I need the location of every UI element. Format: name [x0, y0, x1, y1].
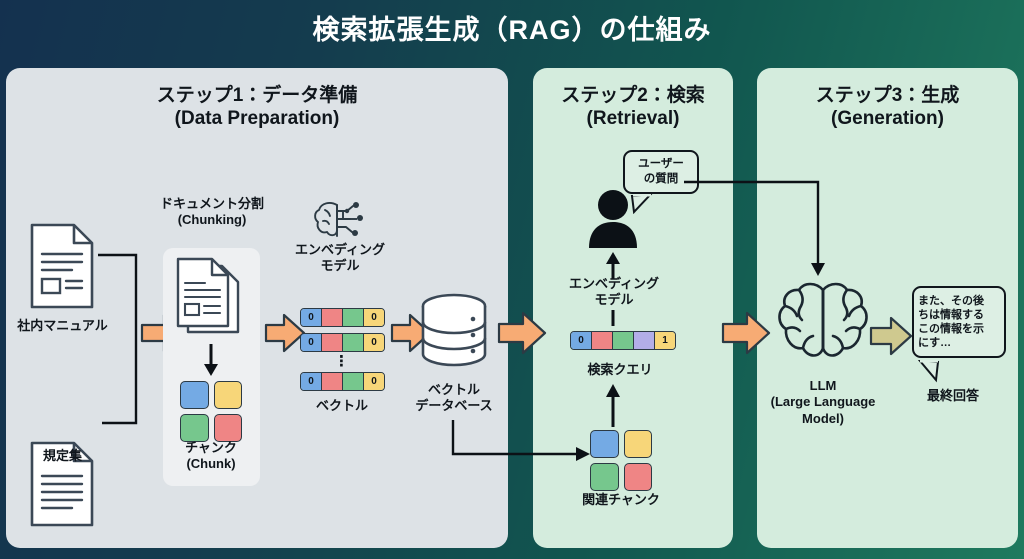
vector-cell	[322, 334, 343, 351]
panel-step2-title-en: (Retrieval)	[533, 107, 733, 130]
panel-step1-title-en: (Data Preparation)	[6, 107, 508, 130]
related-chunk-yellow	[624, 430, 653, 458]
vector-cell: 0	[364, 373, 384, 390]
chunk-yellow	[214, 381, 243, 409]
brain-icon[interactable]	[776, 278, 870, 370]
llm-label-line2: (Large Language	[745, 394, 901, 410]
final-answer-bubble: また、その後 ちは情報する この情報を示 にす…	[912, 286, 1006, 358]
page-title: 検索拡張生成（RAG）の仕組み	[0, 8, 1024, 47]
llm-label-line3: Model)	[745, 411, 901, 427]
chunking-title-ja: ドキュメント分割	[148, 196, 276, 212]
answer-bubble-tail	[918, 360, 944, 384]
answer-line2: ちは情報する	[918, 308, 1000, 322]
document-icon	[28, 222, 96, 310]
chunk-grid	[180, 381, 242, 442]
brain-circuit-icon	[312, 198, 368, 244]
vector-cell: 0	[301, 334, 322, 351]
panel-step2-title: ステップ2：検索 (Retrieval)	[533, 84, 733, 130]
vector-cell	[322, 373, 343, 390]
answer-line1: また、その後	[918, 294, 1000, 308]
query-cell: 0	[571, 332, 592, 349]
panel-step1-title-ja: ステップ1：データ準備	[6, 84, 508, 107]
answer-line3: この情報を示	[918, 322, 1000, 336]
query-cell	[592, 332, 613, 349]
query-cell: 1	[655, 332, 675, 349]
panel-step3-title-ja: ステップ3：生成	[757, 84, 1018, 107]
vector-row: 0 0	[300, 372, 385, 391]
vector-row: 0 0	[300, 333, 385, 352]
database-cylinder-icon[interactable]	[418, 292, 490, 374]
vector-cell	[343, 309, 364, 326]
vector-cell	[322, 309, 343, 326]
embedding-model-step2-line1: エンベディング	[558, 276, 670, 292]
search-query-label: 検索クエリ	[560, 362, 680, 378]
chunking-title-en: (Chunking)	[148, 212, 276, 228]
llm-label-line1: LLM	[745, 378, 901, 394]
diagram-stage: 検索拡張生成（RAG）の仕組み ステップ1：データ準備 (Data Prepar…	[0, 0, 1024, 559]
question-to-llm-connector	[684, 176, 828, 280]
vector-cell: 0	[301, 309, 322, 326]
embedding-model-label-step1: エンベディング モデル	[285, 242, 395, 273]
chunk-red	[214, 414, 243, 442]
vector-db-label: ベクトル データベース	[404, 382, 504, 413]
chunking-down-arrow	[203, 344, 219, 378]
chunk-green	[180, 414, 209, 442]
llm-label: LLM (Large Language Model)	[745, 378, 901, 427]
search-query-vector: 0 1	[570, 331, 676, 350]
vector-db-label-line1: ベクトル	[404, 382, 504, 398]
chunk-label: チャンク (Chunk)	[158, 440, 264, 471]
vector-db-label-line2: データベース	[404, 398, 504, 414]
query-cell	[634, 332, 655, 349]
embedding-query-connector	[605, 310, 621, 332]
final-answer-label: 最終回答	[900, 388, 1006, 404]
chunk-label-en: (Chunk)	[158, 456, 264, 472]
vector-cell: 0	[364, 309, 384, 326]
db-to-chunks-connector	[450, 418, 600, 474]
vector-cell	[343, 373, 364, 390]
flow-arrow-5	[721, 310, 771, 356]
document-stack-icon	[172, 256, 250, 340]
chunking-title: ドキュメント分割 (Chunking)	[148, 196, 276, 227]
chunk-label-ja: チャンク	[158, 440, 264, 456]
answer-line4: にす…	[918, 336, 1000, 350]
chunk-blue	[180, 381, 209, 409]
embedding-model-step2-line2: モデル	[558, 292, 670, 308]
flow-arrow-4	[497, 310, 547, 356]
embedding-model-label-line2: モデル	[285, 258, 395, 274]
user-question-line1: ユーザー	[629, 157, 693, 172]
vector-list: 0 0 0 0 ⋮ 0 0	[300, 308, 385, 391]
panel-step3-title: ステップ3：生成 (Generation)	[757, 84, 1018, 130]
panel-step3-title-en: (Generation)	[757, 107, 1018, 130]
flow-arrow-olive	[869, 315, 913, 357]
related-chunk-red	[624, 463, 653, 491]
embedding-model-label-line1: エンベディング	[285, 242, 395, 258]
panel-step1-title: ステップ1：データ準備 (Data Preparation)	[6, 84, 508, 130]
vector-cell	[343, 334, 364, 351]
vector-cell: 0	[301, 373, 322, 390]
embedding-model-label-step2: エンベディング モデル	[558, 276, 670, 307]
related-chunks-up-arrow	[605, 384, 621, 428]
vector-row: 0 0	[300, 308, 385, 327]
question-bubble-tail	[630, 194, 656, 214]
query-cell	[613, 332, 634, 349]
vector-cell: 0	[364, 334, 384, 351]
source-document-2-label: 規定集	[0, 448, 125, 464]
panel-step2-title-ja: ステップ2：検索	[533, 84, 733, 107]
related-chunks-label: 関連チャンク	[560, 492, 682, 508]
vector-ellipsis: ⋮	[300, 359, 385, 365]
vector-label: ベクトル	[296, 398, 388, 414]
